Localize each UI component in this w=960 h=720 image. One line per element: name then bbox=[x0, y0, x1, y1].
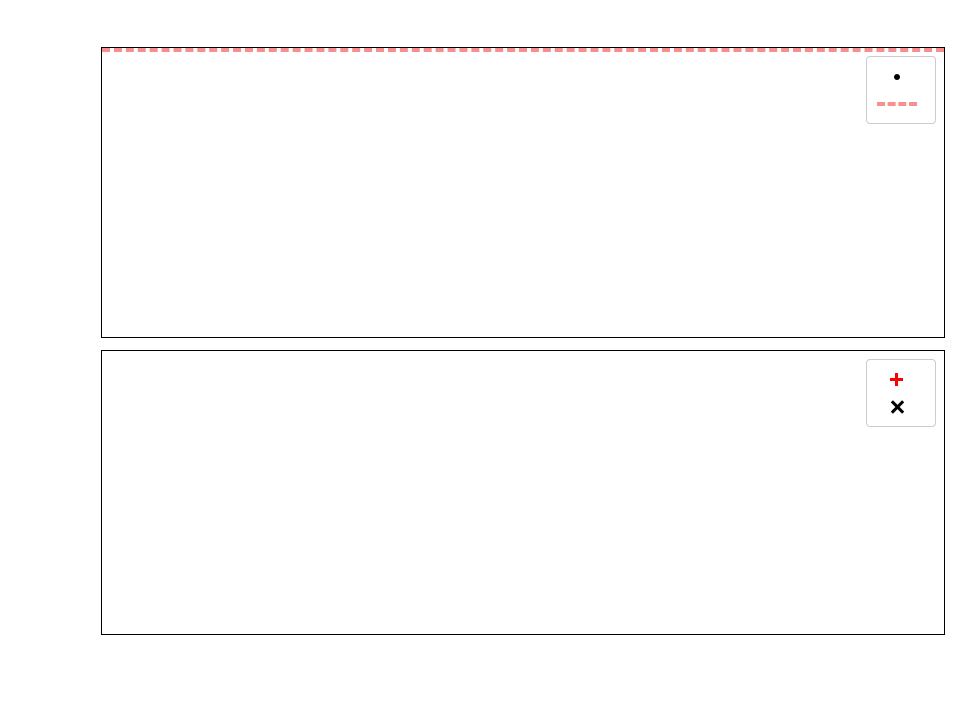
legend-item-matched-stars bbox=[875, 366, 925, 393]
legend-item-predicted-stars bbox=[875, 393, 925, 420]
top-panel-legend[interactable] bbox=[866, 56, 936, 124]
figure-canvas bbox=[0, 0, 960, 720]
cross-marker-icon bbox=[875, 397, 919, 417]
dashed-line-marker-icon bbox=[875, 94, 919, 114]
top-panel-plot-area bbox=[102, 48, 944, 337]
bottom-panel-legend[interactable] bbox=[866, 359, 936, 427]
bottom-panel-axes bbox=[101, 350, 945, 635]
top-panel-axes bbox=[101, 47, 945, 338]
legend-item-measurements bbox=[875, 63, 925, 90]
legend-item-threshold bbox=[875, 90, 925, 117]
threshold-line bbox=[102, 48, 944, 52]
bottom-panel-plot-area bbox=[102, 351, 944, 634]
dot-marker-icon bbox=[875, 67, 919, 87]
plus-marker-icon bbox=[875, 370, 919, 390]
